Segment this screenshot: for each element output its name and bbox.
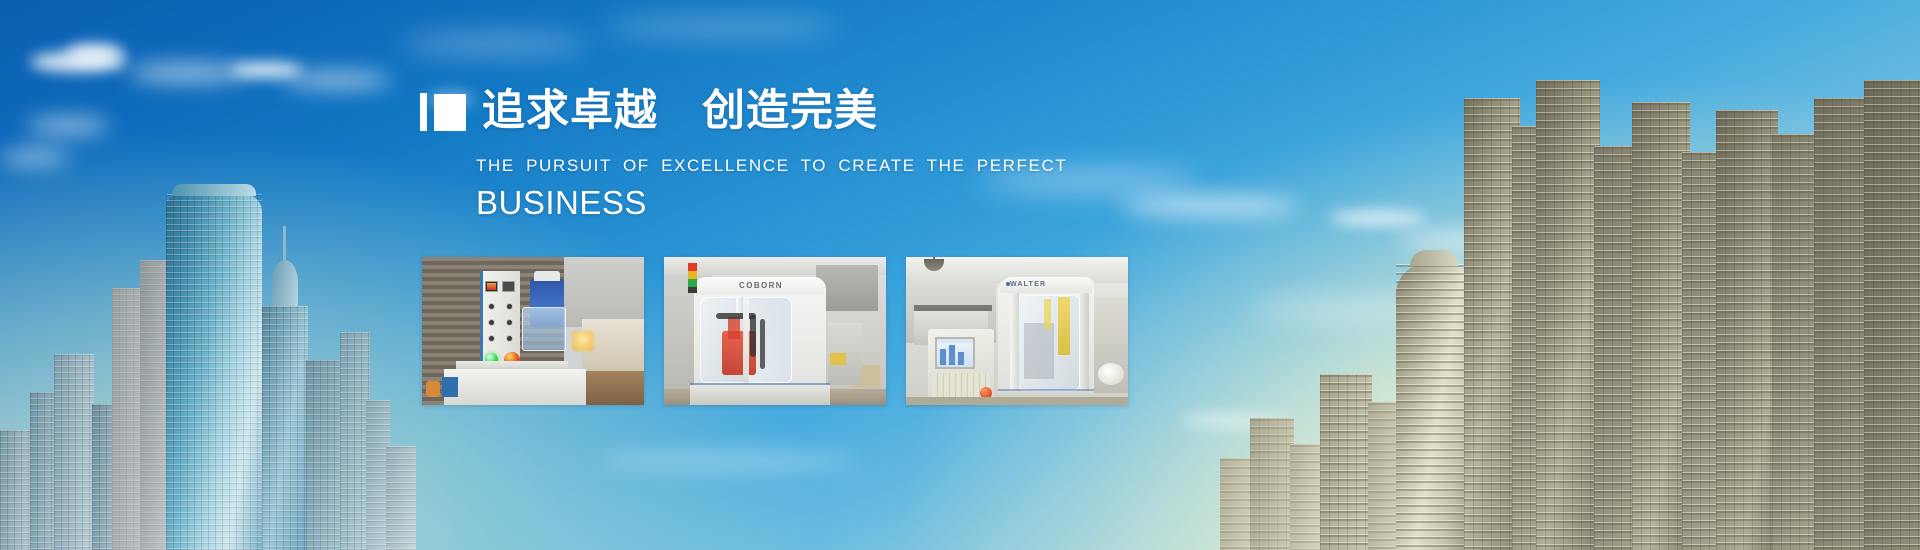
building [366, 400, 390, 550]
building [1250, 418, 1294, 550]
building [92, 404, 114, 550]
building [1290, 444, 1324, 550]
skyline-right [1220, 80, 1920, 550]
building [112, 288, 168, 550]
cloud-icon [1432, 268, 1502, 282]
building [1368, 402, 1398, 550]
cloud-icon [128, 64, 248, 82]
building-antenna [283, 226, 286, 260]
cloud-icon [30, 52, 126, 72]
building-tall-slab [1632, 102, 1690, 550]
skyline-left [0, 140, 420, 550]
building [0, 430, 34, 550]
building [1682, 152, 1724, 550]
cloud-icon [1250, 300, 1450, 320]
building [54, 354, 94, 550]
cloud-icon [66, 44, 124, 62]
bar-square-mark-icon [420, 91, 466, 131]
building [1220, 458, 1256, 550]
building-dome [272, 260, 298, 306]
building [340, 332, 370, 550]
building [1864, 80, 1920, 550]
building [30, 392, 56, 550]
product-photo[interactable]: WALTER [906, 257, 1128, 405]
building-crown [172, 184, 256, 196]
product-photo-strip: COBORN [422, 257, 1128, 405]
building-round-tower [1396, 264, 1470, 550]
building-tall-slab [1536, 80, 1600, 550]
machine-brand-label: WALTER [1010, 279, 1066, 290]
cloud-icon [600, 20, 840, 34]
business-word: BUSINESS [476, 184, 1140, 222]
cloud-icon [1506, 282, 1626, 298]
tagline: THE PURSUIT OF EXCELLENCE TO CREATE THE … [476, 156, 1140, 176]
cloud-icon [26, 118, 110, 134]
cloud-icon [230, 62, 302, 78]
building [386, 446, 416, 550]
building [306, 360, 346, 550]
building-spire [262, 306, 308, 550]
building-crown [1410, 250, 1458, 266]
banner-content: 追求卓越 创造完美 THE PURSUIT OF EXCELLENCE TO C… [420, 86, 1140, 222]
machine-brand-label: COBORN [730, 280, 792, 291]
headline-row: 追求卓越 创造完美 [420, 86, 1140, 136]
building [1716, 110, 1778, 550]
building [1772, 134, 1820, 550]
building-tall-slab [1464, 98, 1520, 550]
building [1512, 126, 1542, 550]
product-photo[interactable] [422, 257, 644, 405]
building [1594, 146, 1640, 550]
hero-banner: 追求卓越 创造完美 THE PURSUIT OF EXCELLENCE TO C… [0, 0, 1920, 550]
cloud-icon [400, 36, 590, 52]
cloud-icon [600, 452, 860, 470]
cloud-icon [1120, 196, 1300, 216]
building [1320, 374, 1372, 550]
cloud-icon [1330, 210, 1426, 226]
building-glass-tower [166, 194, 262, 550]
cloud-icon [1180, 414, 1290, 428]
building [1814, 98, 1870, 550]
building [140, 260, 166, 550]
cloud-icon [282, 72, 392, 88]
page-title: 追求卓越 创造完美 [482, 90, 878, 133]
cloud-icon [0, 150, 70, 164]
cloud-icon [1400, 232, 1550, 250]
product-photo[interactable]: COBORN [664, 257, 886, 405]
